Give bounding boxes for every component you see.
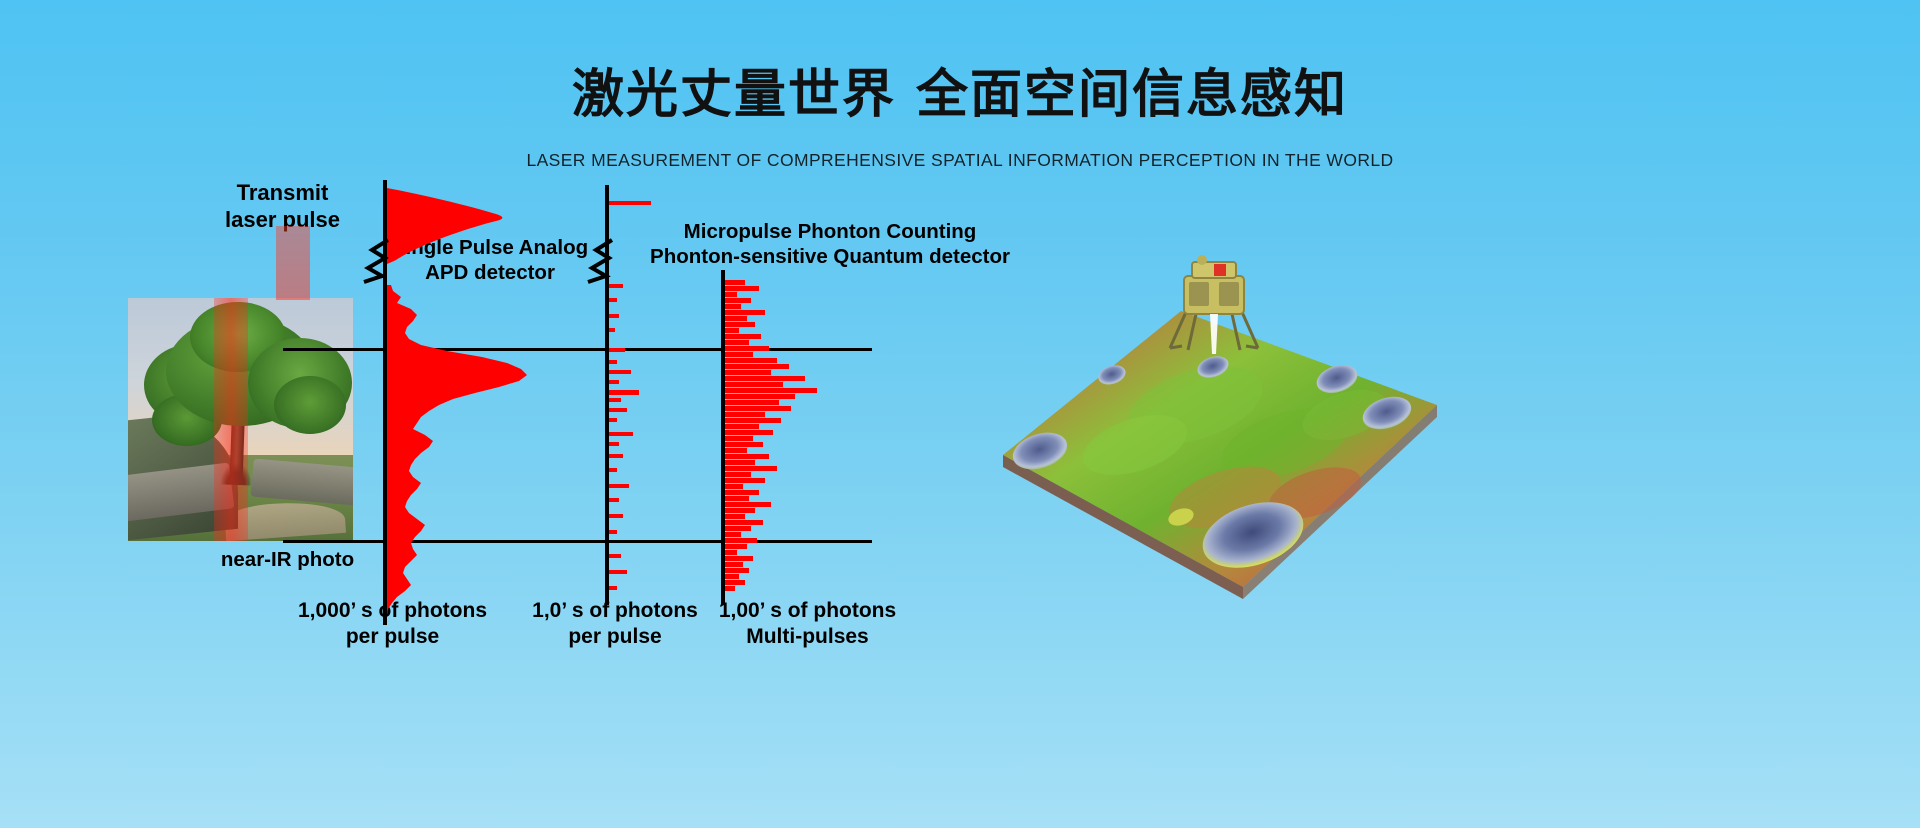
lander-thruster-plume — [1210, 314, 1218, 354]
lander-panel-right — [1219, 282, 1239, 306]
page-title: 激光丈量世界 全面空间信息感知 — [0, 52, 1920, 127]
transmit-pulse-spike — [387, 188, 502, 264]
lander-antenna-dish — [1197, 255, 1207, 265]
page-subtitle: LASER MEASUREMENT OF COMPREHENSIVE SPATI… — [0, 150, 1920, 171]
photo-laser-beam-overlay — [214, 298, 248, 541]
waveform-panel-micropulse — [680, 270, 900, 605]
axis-break-panel-2 — [576, 238, 618, 284]
poster-canvas: 激光丈量世界 全面空间信息感知 LASER MEASUREMENT OF COM… — [0, 0, 1920, 828]
footer-label-panel-3: 1,00’ s of photons Multi-pulses — [700, 598, 915, 649]
panel3-photon-bars — [725, 280, 817, 591]
lander-panel-left — [1189, 282, 1209, 306]
lunar-lander-model — [1158, 250, 1270, 360]
panel3-axis — [721, 270, 725, 605]
return-waveform-analog — [387, 285, 527, 615]
axis-break-panel-1 — [352, 238, 394, 284]
lander-red-marker — [1214, 264, 1226, 276]
